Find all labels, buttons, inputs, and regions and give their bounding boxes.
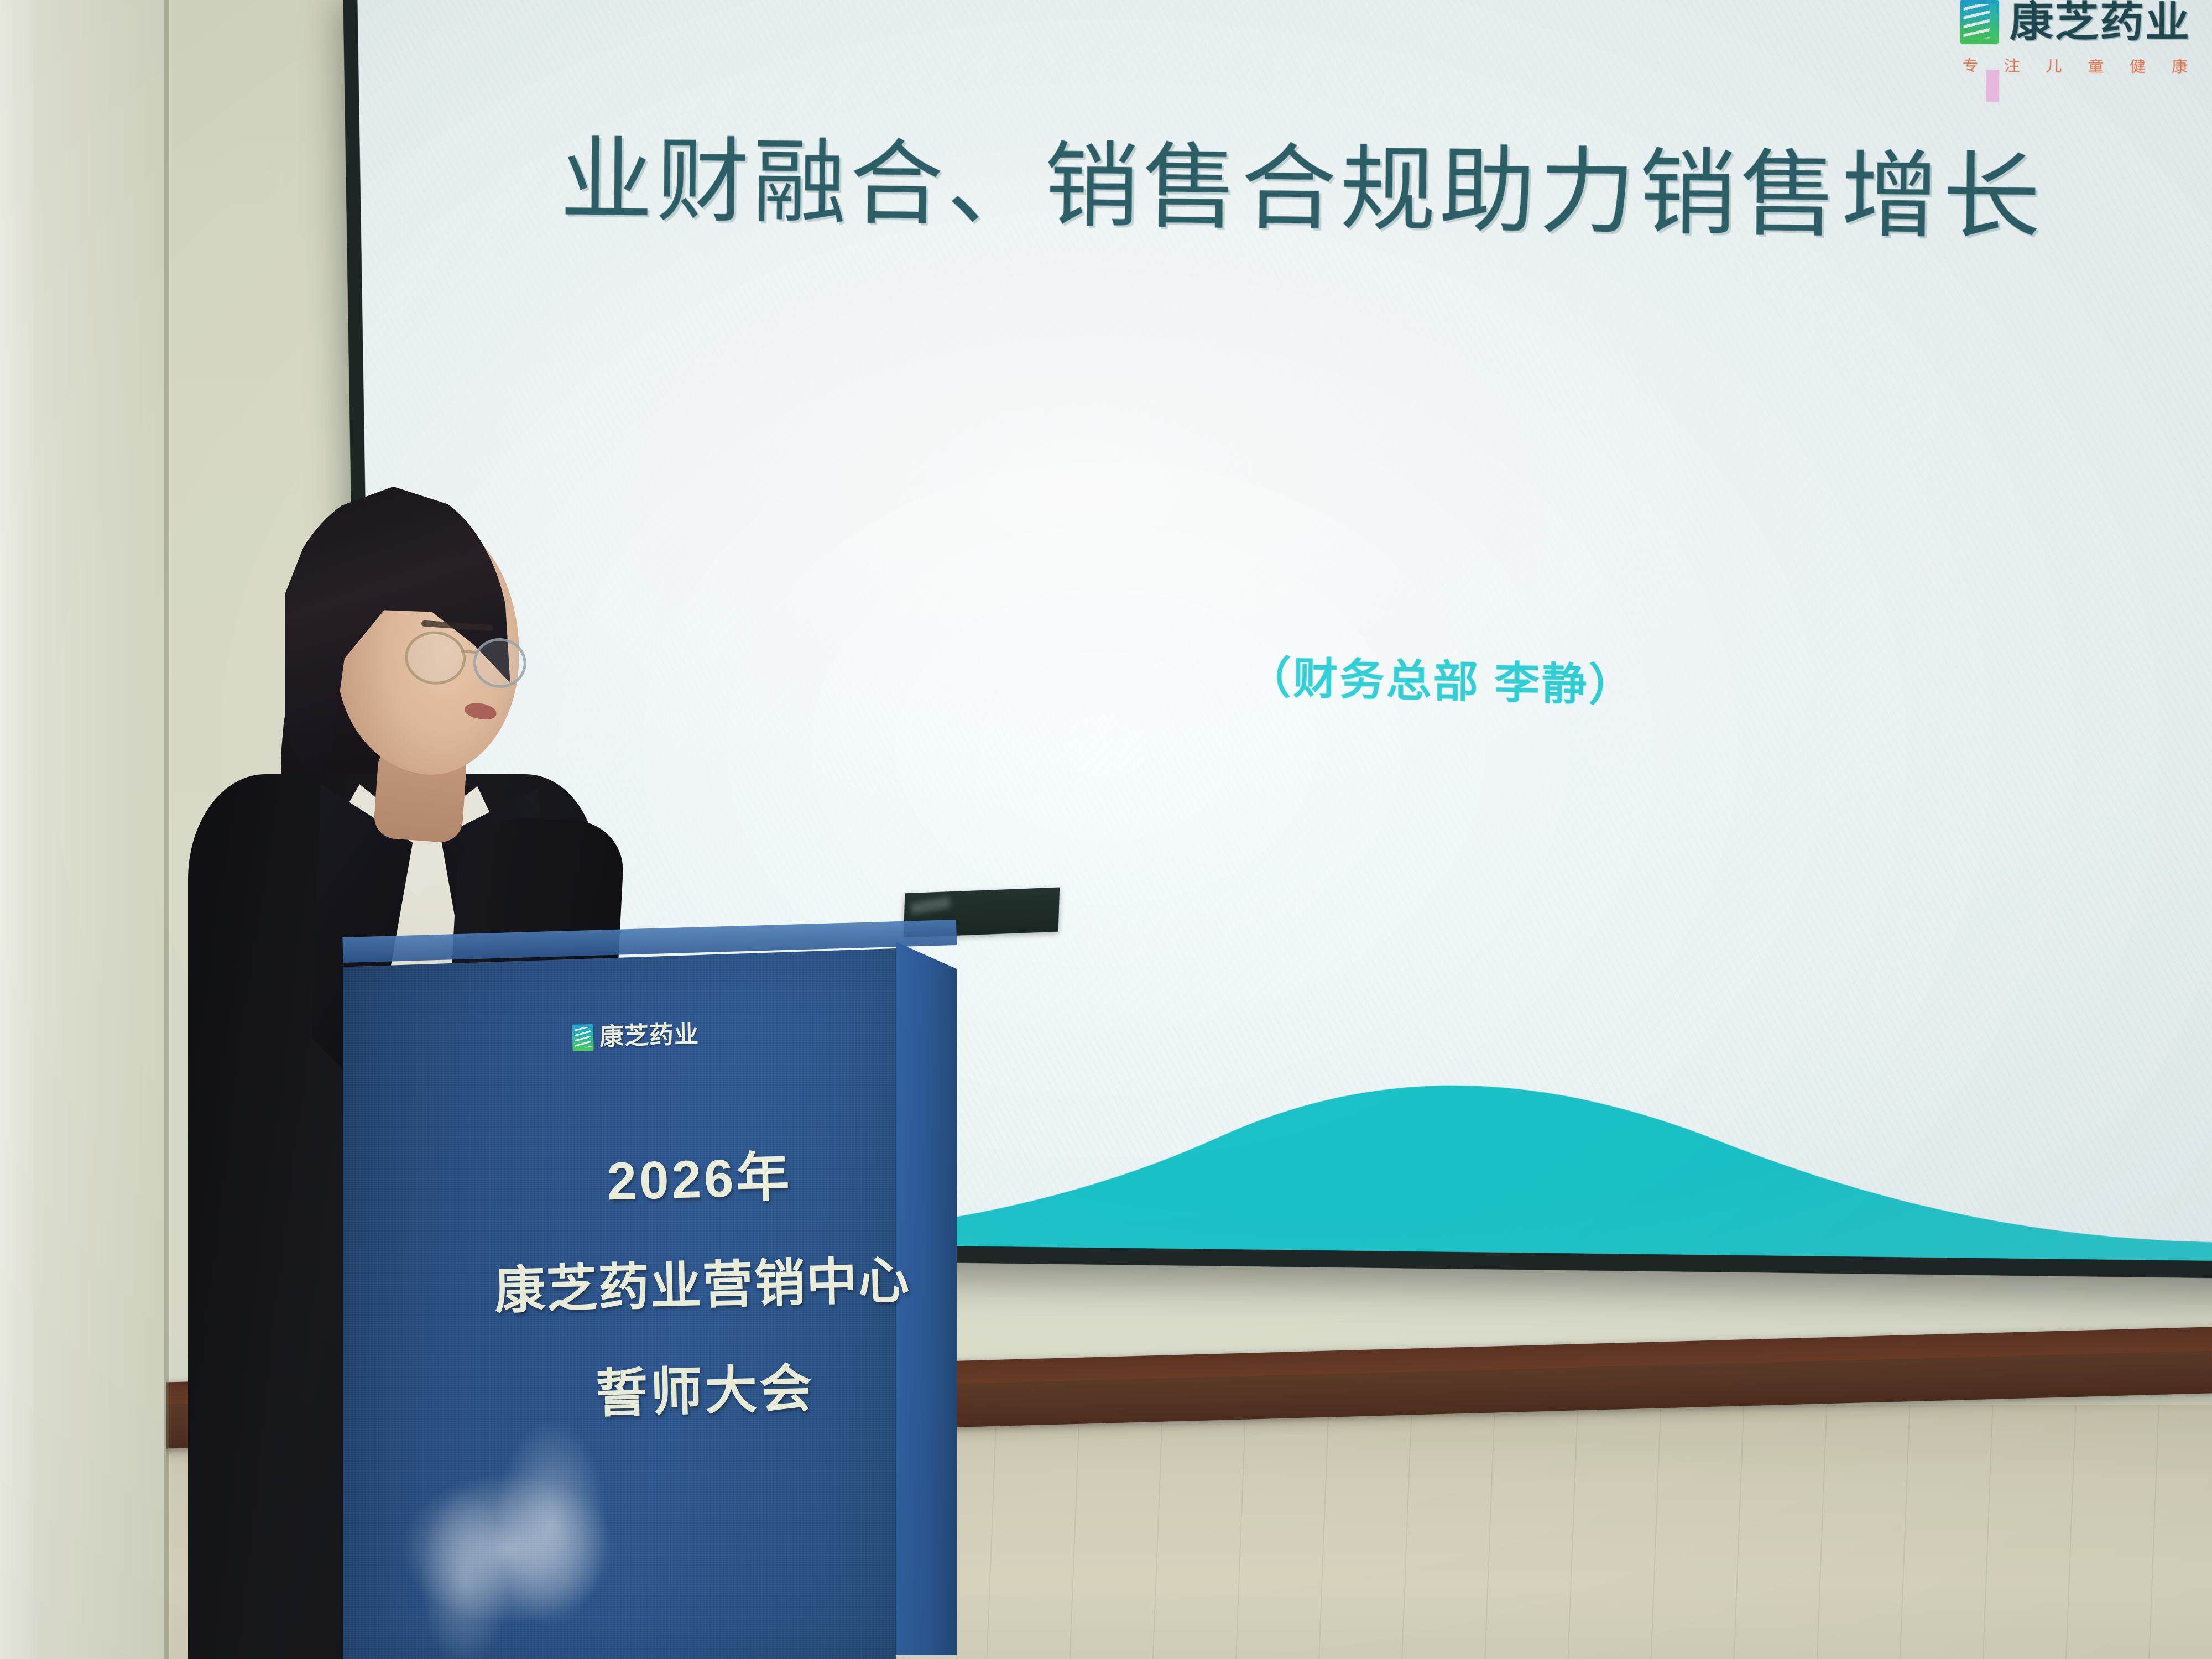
podium-logo-company-name: 康芝药业 [599,1022,699,1049]
slide-subtitle: （财务总部 李静） [1246,642,1636,714]
podium: 康芝药业 2026年 康芝药业营销中心 誓师大会 [343,932,957,1659]
logo-row: 康芝药业 [1960,0,2190,45]
logo-company-name: 康芝药业 [2010,1,2190,44]
podium-company-logo: 康芝药业 [572,1021,699,1051]
laptop-screen-reflection [911,896,951,914]
podium-line-year: 2026年 [607,1151,793,1209]
left-wall-highlight [0,0,33,1659]
pink-accent-bar [1986,70,1999,102]
presentation-photo-scene: 康芝药业 专 注 儿 童 健 康 业财融合、销售合规助力销售增长 （财务总部 李… [0,0,2212,1659]
slide-title: 业财融合、销售合规助力销售增长 [560,115,2188,268]
podium-line-org: 康芝药业营销中心 [494,1255,911,1317]
kangzhi-logo-icon [572,1024,593,1051]
podium-line-event: 誓师大会 [595,1363,815,1420]
kangzhi-logo-icon [1960,0,1999,44]
glasses-lens-right [471,635,529,691]
podium-text-block: 2026年 康芝药业营销中心 誓师大会 [522,1149,883,1422]
slide-company-logo: 康芝药业 专 注 儿 童 健 康 [1952,0,2199,77]
glasses-lens-left [402,628,468,687]
